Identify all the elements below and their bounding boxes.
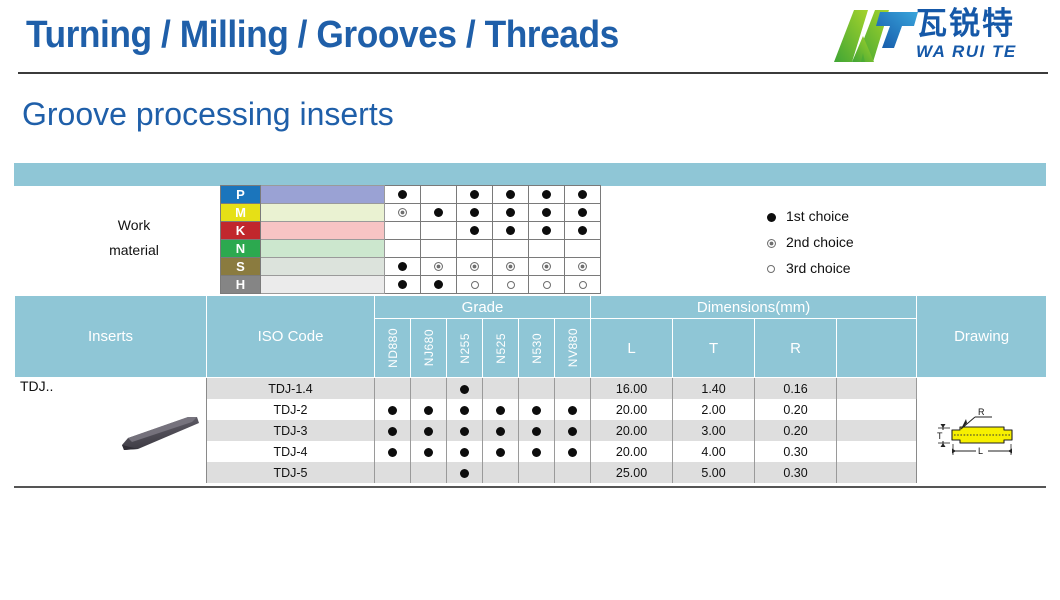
grade-label: ND880 <box>386 328 400 368</box>
material-choice-cell <box>529 258 565 276</box>
material-choice-cell <box>529 186 565 204</box>
choice-legend: 1st choice2nd choice3rd choice <box>762 203 854 281</box>
dimension-cell-L: 16.00 <box>591 378 673 400</box>
material-first-choice-icon <box>470 190 479 199</box>
grade-availability-cell <box>483 462 519 483</box>
grade-availability-cell <box>483 420 519 441</box>
material-choice-cell <box>385 204 421 222</box>
material-code-P: P <box>221 186 261 204</box>
dimension-cell-T: 3.00 <box>673 420 755 441</box>
material-second-choice-icon <box>434 262 443 271</box>
grade-availability-cell <box>411 378 447 400</box>
th-inserts: Inserts <box>15 296 207 378</box>
dimension-cell-T: 2.00 <box>673 399 755 420</box>
material-choice-cell <box>529 222 565 240</box>
th-grade-NJ680: NJ680 <box>411 319 447 378</box>
material-choice-cell <box>385 240 421 258</box>
grade-first-choice-icon <box>496 427 505 436</box>
material-choice-cell <box>385 258 421 276</box>
work-material-row: N <box>221 240 601 258</box>
material-second-choice-icon <box>578 262 587 271</box>
dimension-cell-R: 0.20 <box>755 420 837 441</box>
iso-code-cell: TDJ-5 <box>207 462 375 483</box>
dimension-cell-extra <box>837 378 917 400</box>
grade-label: NJ680 <box>422 329 436 366</box>
dimension-cell-extra <box>837 420 917 441</box>
grade-availability-cell <box>555 420 591 441</box>
dimension-cell-extra <box>837 399 917 420</box>
material-choice-cell <box>421 258 457 276</box>
grade-empty <box>568 384 577 393</box>
material-empty <box>506 243 515 252</box>
material-code-H: H <box>221 276 261 294</box>
grade-empty <box>424 468 433 477</box>
legend-third-choice-icon <box>767 265 775 273</box>
grade-first-choice-icon <box>568 427 577 436</box>
iso-code-cell: TDJ-3 <box>207 420 375 441</box>
grade-empty <box>568 468 577 477</box>
grade-empty <box>496 468 505 477</box>
grade-first-choice-icon <box>460 448 469 457</box>
grade-first-choice-icon <box>424 406 433 415</box>
material-first-choice-icon <box>398 190 407 199</box>
th-iso-code: ISO Code <box>207 296 375 378</box>
material-first-choice-icon <box>398 280 407 289</box>
material-code-K: K <box>221 222 261 240</box>
material-first-choice-icon <box>542 208 551 217</box>
grade-availability-cell <box>447 399 483 420</box>
material-choice-cell <box>421 240 457 258</box>
material-swatch-K <box>261 222 385 240</box>
grade-availability-cell <box>375 420 411 441</box>
material-choice-cell <box>385 186 421 204</box>
th-grade-N530: N530 <box>519 319 555 378</box>
material-choice-cell <box>421 222 457 240</box>
legend-label: 2nd choice <box>786 234 854 250</box>
material-first-choice-icon <box>578 190 587 199</box>
material-choice-cell <box>529 240 565 258</box>
material-choice-cell <box>457 186 493 204</box>
material-choice-cell <box>493 240 529 258</box>
grade-empty <box>496 384 505 393</box>
grade-empty <box>424 384 433 393</box>
material-first-choice-icon <box>506 190 515 199</box>
legend-first-choice-icon <box>767 213 776 222</box>
material-choice-cell <box>529 276 565 294</box>
work-material-row: M <box>221 204 601 222</box>
work-material-label-line1: Work <box>54 213 214 238</box>
material-empty <box>578 243 587 252</box>
material-swatch-N <box>261 240 385 258</box>
material-choice-cell <box>565 186 601 204</box>
material-first-choice-icon <box>506 226 515 235</box>
grade-first-choice-icon <box>496 406 505 415</box>
th-dim-T: T <box>673 319 755 378</box>
grade-label: N530 <box>530 333 544 364</box>
legend-item: 1st choice <box>762 203 854 229</box>
grade-first-choice-icon <box>532 448 541 457</box>
grade-availability-cell <box>411 399 447 420</box>
iso-code-cell: TDJ-4 <box>207 441 375 462</box>
grade-empty <box>388 468 397 477</box>
grade-first-choice-icon <box>460 469 469 478</box>
material-second-choice-icon <box>506 262 515 271</box>
logo-latin-text: WA RUI TE <box>916 42 1017 62</box>
work-material-section: Work material PMKNSH <box>14 185 1046 295</box>
top-accent-band <box>14 163 1046 186</box>
dimension-cell-R: 0.16 <box>755 378 837 400</box>
material-choice-cell <box>457 276 493 294</box>
th-dim-L: L <box>591 319 673 378</box>
th-grade-NV880: NV880 <box>555 319 591 378</box>
grade-label: NV880 <box>566 328 580 367</box>
material-second-choice-icon <box>398 208 407 217</box>
legend-second-choice-icon <box>767 239 776 248</box>
material-swatch-H <box>261 276 385 294</box>
grade-first-choice-icon <box>424 448 433 457</box>
material-third-choice-icon <box>579 281 587 289</box>
drawing-label-R: R <box>978 407 985 417</box>
material-code-S: S <box>221 258 261 276</box>
grade-empty <box>532 384 541 393</box>
dimension-cell-L: 20.00 <box>591 399 673 420</box>
material-empty <box>434 243 443 252</box>
grade-availability-cell <box>555 378 591 400</box>
work-material-label: Work material <box>54 213 214 263</box>
grade-label: N525 <box>494 333 508 364</box>
th-dimensions-group: Dimensions(mm) <box>591 296 917 319</box>
grade-first-choice-icon <box>568 448 577 457</box>
header-title: Turning / Milling / Grooves / Threads <box>26 14 619 57</box>
material-second-choice-icon <box>542 262 551 271</box>
material-choice-cell <box>421 276 457 294</box>
grade-availability-cell <box>483 441 519 462</box>
grade-availability-cell <box>555 399 591 420</box>
grade-label: N255 <box>458 333 472 364</box>
grade-availability-cell <box>375 399 411 420</box>
grade-first-choice-icon <box>388 406 397 415</box>
material-third-choice-icon <box>507 281 515 289</box>
grade-availability-cell <box>519 378 555 400</box>
insert-dimension-drawing: R T L <box>930 404 1034 466</box>
th-grade-N255: N255 <box>447 319 483 378</box>
material-empty <box>434 225 443 234</box>
material-choice-cell <box>421 204 457 222</box>
material-choice-cell <box>457 204 493 222</box>
material-third-choice-icon <box>543 281 551 289</box>
material-choice-cell <box>493 204 529 222</box>
grade-availability-cell <box>519 399 555 420</box>
material-choice-cell <box>493 186 529 204</box>
material-code-N: N <box>221 240 261 258</box>
material-empty <box>398 225 407 234</box>
work-material-row: S <box>221 258 601 276</box>
material-first-choice-icon <box>578 226 587 235</box>
grade-availability-cell <box>483 399 519 420</box>
material-first-choice-icon <box>398 262 407 271</box>
dimension-cell-R: 0.30 <box>755 441 837 462</box>
table-row[interactable]: TDJ-1.416.001.400.16 <box>15 378 1047 400</box>
grade-availability-cell <box>375 378 411 400</box>
material-choice-cell <box>457 258 493 276</box>
material-empty <box>398 243 407 252</box>
material-empty <box>470 243 479 252</box>
th-grade-ND880: ND880 <box>375 319 411 378</box>
grade-availability-cell <box>411 462 447 483</box>
material-code-M: M <box>221 204 261 222</box>
th-dim-R: R <box>755 319 837 378</box>
grade-first-choice-icon <box>460 406 469 415</box>
grade-first-choice-icon <box>532 427 541 436</box>
material-choice-cell <box>565 258 601 276</box>
dimension-cell-T: 1.40 <box>673 378 755 400</box>
grade-availability-cell <box>447 378 483 400</box>
material-third-choice-icon <box>471 281 479 289</box>
material-empty <box>434 189 443 198</box>
material-second-choice-icon <box>470 262 479 271</box>
dimension-cell-L: 25.00 <box>591 462 673 483</box>
grade-availability-cell <box>375 462 411 483</box>
grade-availability-cell <box>519 462 555 483</box>
dimension-cell-L: 20.00 <box>591 441 673 462</box>
grade-first-choice-icon <box>460 427 469 436</box>
material-first-choice-icon <box>506 208 515 217</box>
header-divider <box>18 72 1048 74</box>
th-drawing: Drawing <box>917 296 1047 378</box>
dimension-cell-R: 0.20 <box>755 399 837 420</box>
grade-first-choice-icon <box>568 406 577 415</box>
grade-availability-cell <box>411 441 447 462</box>
page-title: Groove processing inserts <box>22 96 394 133</box>
page-header: Turning / Milling / Grooves / Threads 瓦锐… <box>0 0 1060 78</box>
dimension-cell-extra <box>837 441 917 462</box>
material-choice-cell <box>565 240 601 258</box>
drawing-label-L: L <box>978 446 983 456</box>
material-choice-cell <box>457 222 493 240</box>
material-first-choice-icon <box>434 280 443 289</box>
dimension-cell-R: 0.30 <box>755 462 837 483</box>
drawing-label-T: T <box>937 431 943 441</box>
material-choice-cell <box>565 276 601 294</box>
iso-code-cell: TDJ-1.4 <box>207 378 375 400</box>
grade-availability-cell <box>555 441 591 462</box>
grade-availability-cell <box>519 441 555 462</box>
work-material-matrix: PMKNSH <box>220 185 601 294</box>
grade-availability-cell <box>411 420 447 441</box>
material-first-choice-icon <box>542 190 551 199</box>
material-first-choice-icon <box>470 208 479 217</box>
material-swatch-P <box>261 186 385 204</box>
dimension-cell-T: 5.00 <box>673 462 755 483</box>
grade-first-choice-icon <box>388 427 397 436</box>
legend-item: 2nd choice <box>762 229 854 255</box>
grade-empty <box>388 384 397 393</box>
legend-label: 1st choice <box>786 208 849 224</box>
work-material-row: H <box>221 276 601 294</box>
legend-mark <box>762 234 780 250</box>
work-material-row: K <box>221 222 601 240</box>
logo-chinese-text: 瓦锐特 <box>916 7 1015 41</box>
material-swatch-S <box>261 258 385 276</box>
th-grade-group: Grade <box>375 296 591 319</box>
th-dim-blank <box>837 319 917 378</box>
grade-first-choice-icon <box>424 427 433 436</box>
waruite-logo: 瓦锐特 WA RUI TE <box>828 6 1054 68</box>
work-material-label-line2: material <box>54 238 214 263</box>
grade-first-choice-icon <box>496 448 505 457</box>
iso-code-cell: TDJ-2 <box>207 399 375 420</box>
grade-first-choice-icon <box>460 385 469 394</box>
grade-availability-cell <box>375 441 411 462</box>
grade-first-choice-icon <box>388 448 397 457</box>
legend-mark <box>762 208 780 224</box>
grade-availability-cell <box>483 378 519 400</box>
material-first-choice-icon <box>578 208 587 217</box>
table-bottom-divider <box>14 486 1046 488</box>
material-choice-cell <box>565 222 601 240</box>
dimension-cell-L: 20.00 <box>591 420 673 441</box>
insert-photo <box>118 414 204 458</box>
material-first-choice-icon <box>434 208 443 217</box>
grade-availability-cell <box>447 441 483 462</box>
legend-label: 3rd choice <box>786 260 851 276</box>
material-choice-cell <box>529 204 565 222</box>
material-choice-cell <box>565 204 601 222</box>
grade-first-choice-icon <box>532 406 541 415</box>
material-empty <box>542 243 551 252</box>
material-choice-cell <box>385 222 421 240</box>
material-choice-cell <box>493 276 529 294</box>
material-choice-cell <box>385 276 421 294</box>
material-choice-cell <box>493 222 529 240</box>
dimension-cell-extra <box>837 462 917 483</box>
insert-family-label: TDJ.. <box>20 378 53 394</box>
work-material-row: P <box>221 186 601 204</box>
material-first-choice-icon <box>542 226 551 235</box>
th-grade-N525: N525 <box>483 319 519 378</box>
dimension-cell-T: 4.00 <box>673 441 755 462</box>
logo-mark-icon <box>828 6 920 66</box>
material-swatch-M <box>261 204 385 222</box>
legend-item: 3rd choice <box>762 255 854 281</box>
material-choice-cell <box>457 240 493 258</box>
legend-mark <box>762 260 780 276</box>
material-choice-cell <box>493 258 529 276</box>
material-first-choice-icon <box>470 226 479 235</box>
grade-availability-cell <box>519 420 555 441</box>
grade-availability-cell <box>447 420 483 441</box>
material-choice-cell <box>421 186 457 204</box>
grade-availability-cell <box>447 462 483 483</box>
grade-empty <box>532 468 541 477</box>
grade-availability-cell <box>555 462 591 483</box>
